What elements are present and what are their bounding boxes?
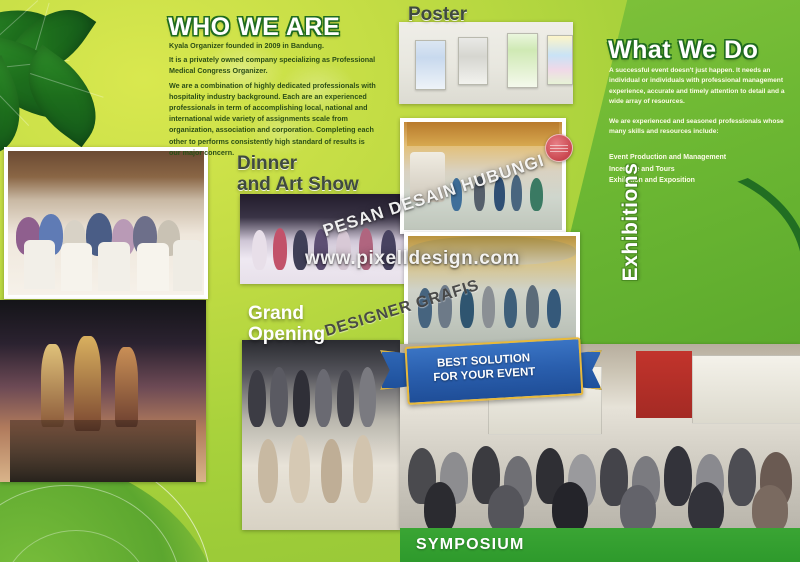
what-we-do-heading: What We Do	[608, 36, 758, 65]
brochure-page: SYMPOSIUM WHO WE ARE Kyala Organizer fou…	[0, 0, 800, 562]
who-paragraph: We are a combination of highly dedicated…	[169, 80, 377, 158]
grand-opening-attendees	[242, 340, 400, 530]
photo-poster-wall	[399, 22, 573, 104]
what-paragraph: A successful event doesn't just happen. …	[609, 66, 785, 108]
photo-exhibition-hall	[400, 118, 566, 234]
exhibition-visitor-figures	[408, 236, 576, 348]
grand-opening-heading: Grand Opening	[248, 303, 325, 345]
who-we-are-body: Kyala Organizer founded in 2009 in Bandu…	[169, 40, 377, 161]
what-paragraph: We are experienced and seasoned professi…	[609, 117, 785, 138]
photo-banquet	[4, 147, 208, 299]
grand-heading-line1: Grand	[248, 303, 325, 324]
photo-traditional-dance	[0, 300, 206, 482]
dinner-heading-line2: and Art Show	[237, 174, 359, 195]
exhibitions-heading: Exhibitions	[619, 142, 643, 302]
photo-grand-opening	[242, 340, 400, 530]
exhibition-hall-visitors	[404, 122, 562, 230]
who-paragraph: Kyala Organizer founded in 2009 in Bandu…	[169, 40, 377, 51]
who-paragraph: It is a privately owned company speciali…	[169, 54, 377, 76]
symposium-label: SYMPOSIUM	[416, 536, 525, 554]
photo-exhibition-visitors	[404, 232, 580, 352]
what-we-do-body: A successful event doesn't just happen. …	[609, 66, 785, 146]
dinner-heading: Dinner and Art Show	[237, 153, 359, 195]
quality-seal-badge	[545, 134, 573, 162]
banquet-crowd	[8, 151, 204, 295]
grand-heading-line2: Opening	[248, 324, 325, 345]
dinner-heading-line1: Dinner	[237, 153, 359, 174]
who-we-are-heading: WHO WE ARE	[168, 13, 340, 42]
dance-figures	[0, 300, 206, 482]
poster-heading: Poster	[408, 4, 467, 26]
